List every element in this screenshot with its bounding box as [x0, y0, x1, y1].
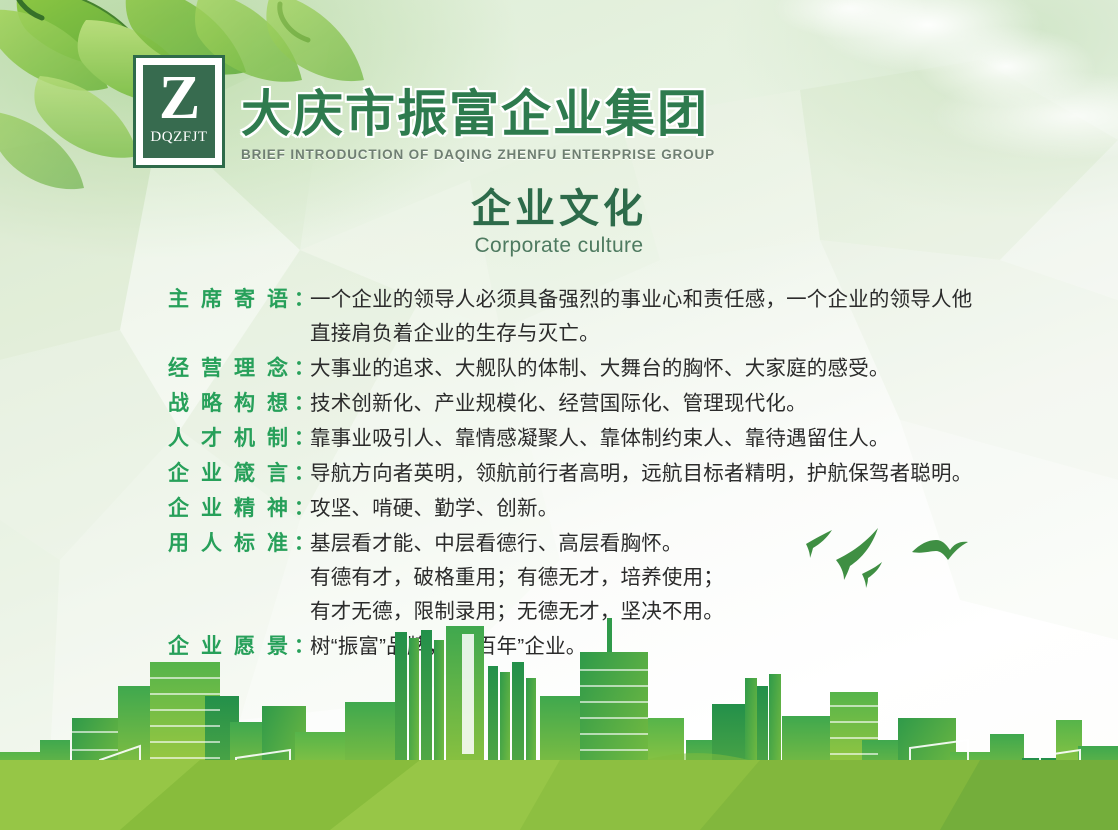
- section-title-en: Corporate culture: [0, 234, 1118, 258]
- company-name-en: BRIEF INTRODUCTION OF DAQING ZHENFU ENTE…: [241, 147, 715, 162]
- birds-decoration: [800, 522, 980, 592]
- culture-row-label: 人才机制: [168, 422, 294, 455]
- culture-row-colon: ：: [294, 352, 310, 385]
- culture-row-label: 用人标准: [168, 527, 294, 560]
- culture-row-colon: ：: [294, 283, 310, 316]
- culture-row: 经营理念：大事业的追求、大舰队的体制、大舞台的胸怀、大家庭的感受。: [168, 352, 998, 385]
- culture-row-body: 技术创新化、产业规模化、经营国际化、管理现代化。: [310, 387, 998, 420]
- culture-row-label: 企业精神: [168, 492, 294, 525]
- brand-text-block: 大庆市振富企业集团 BRIEF INTRODUCTION OF DAQING Z…: [241, 55, 715, 162]
- culture-row-colon: ：: [294, 422, 310, 455]
- culture-row-line: 一个企业的领导人必须具备强烈的事业心和责任感，一个企业的领导人他: [310, 283, 998, 316]
- logo-letter: Z: [159, 69, 199, 128]
- culture-row-label: 经营理念: [168, 352, 294, 385]
- company-name-cn: 大庆市振富企业集团: [241, 89, 715, 139]
- poster-canvas: Z DQZFJT 大庆市振富企业集团 BRIEF INTRODUCTION OF…: [0, 0, 1118, 830]
- culture-row-colon: ：: [294, 457, 310, 490]
- culture-row-body: 靠事业吸引人、靠情感凝聚人、靠体制约束人、靠待遇留住人。: [310, 422, 998, 455]
- culture-row-line: 技术创新化、产业规模化、经营国际化、管理现代化。: [310, 387, 998, 420]
- ground-decoration: [0, 760, 1118, 830]
- culture-row-line: 攻坚、啃硬、勤学、创新。: [310, 492, 998, 525]
- culture-row: 企业精神：攻坚、啃硬、勤学、创新。: [168, 492, 998, 525]
- culture-row-body: 导航方向者英明，领航前行者高明，远航目标者精明，护航保驾者聪明。: [310, 457, 998, 490]
- culture-row-line: 导航方向者英明，领航前行者高明，远航目标者精明，护航保驾者聪明。: [310, 457, 998, 490]
- header: Z DQZFJT 大庆市振富企业集团 BRIEF INTRODUCTION OF…: [133, 55, 715, 168]
- culture-row-colon: ：: [294, 527, 310, 560]
- culture-row-body: 大事业的追求、大舰队的体制、大舞台的胸怀、大家庭的感受。: [310, 352, 998, 385]
- culture-row-colon: ：: [294, 492, 310, 525]
- company-logo: Z DQZFJT: [133, 55, 225, 168]
- culture-row: 战略构想：技术创新化、产业规模化、经营国际化、管理现代化。: [168, 387, 998, 420]
- logo-abbreviation: DQZFJT: [150, 129, 207, 146]
- culture-row-body: 攻坚、啃硬、勤学、创新。: [310, 492, 998, 525]
- culture-row-line: 直接肩负着企业的生存与灭亡。: [310, 317, 998, 350]
- culture-row-colon: ：: [294, 387, 310, 420]
- culture-row-line: 大事业的追求、大舰队的体制、大舞台的胸怀、大家庭的感受。: [310, 352, 998, 385]
- section-title: 企业文化 Corporate culture: [0, 188, 1118, 258]
- culture-row-label: 企业箴言: [168, 457, 294, 490]
- culture-row: 人才机制：靠事业吸引人、靠情感凝聚人、靠体制约束人、靠待遇留住人。: [168, 422, 998, 455]
- culture-row-label: 主席寄语: [168, 283, 294, 316]
- culture-row-body: 一个企业的领导人必须具备强烈的事业心和责任感，一个企业的领导人他直接肩负着企业的…: [310, 283, 998, 350]
- culture-row-label: 战略构想: [168, 387, 294, 420]
- culture-row: 主席寄语：一个企业的领导人必须具备强烈的事业心和责任感，一个企业的领导人他直接肩…: [168, 283, 998, 350]
- section-title-cn: 企业文化: [0, 188, 1118, 230]
- culture-row: 企业箴言：导航方向者英明，领航前行者高明，远航目标者精明，护航保驾者聪明。: [168, 457, 998, 490]
- culture-row-line: 靠事业吸引人、靠情感凝聚人、靠体制约束人、靠待遇留住人。: [310, 422, 998, 455]
